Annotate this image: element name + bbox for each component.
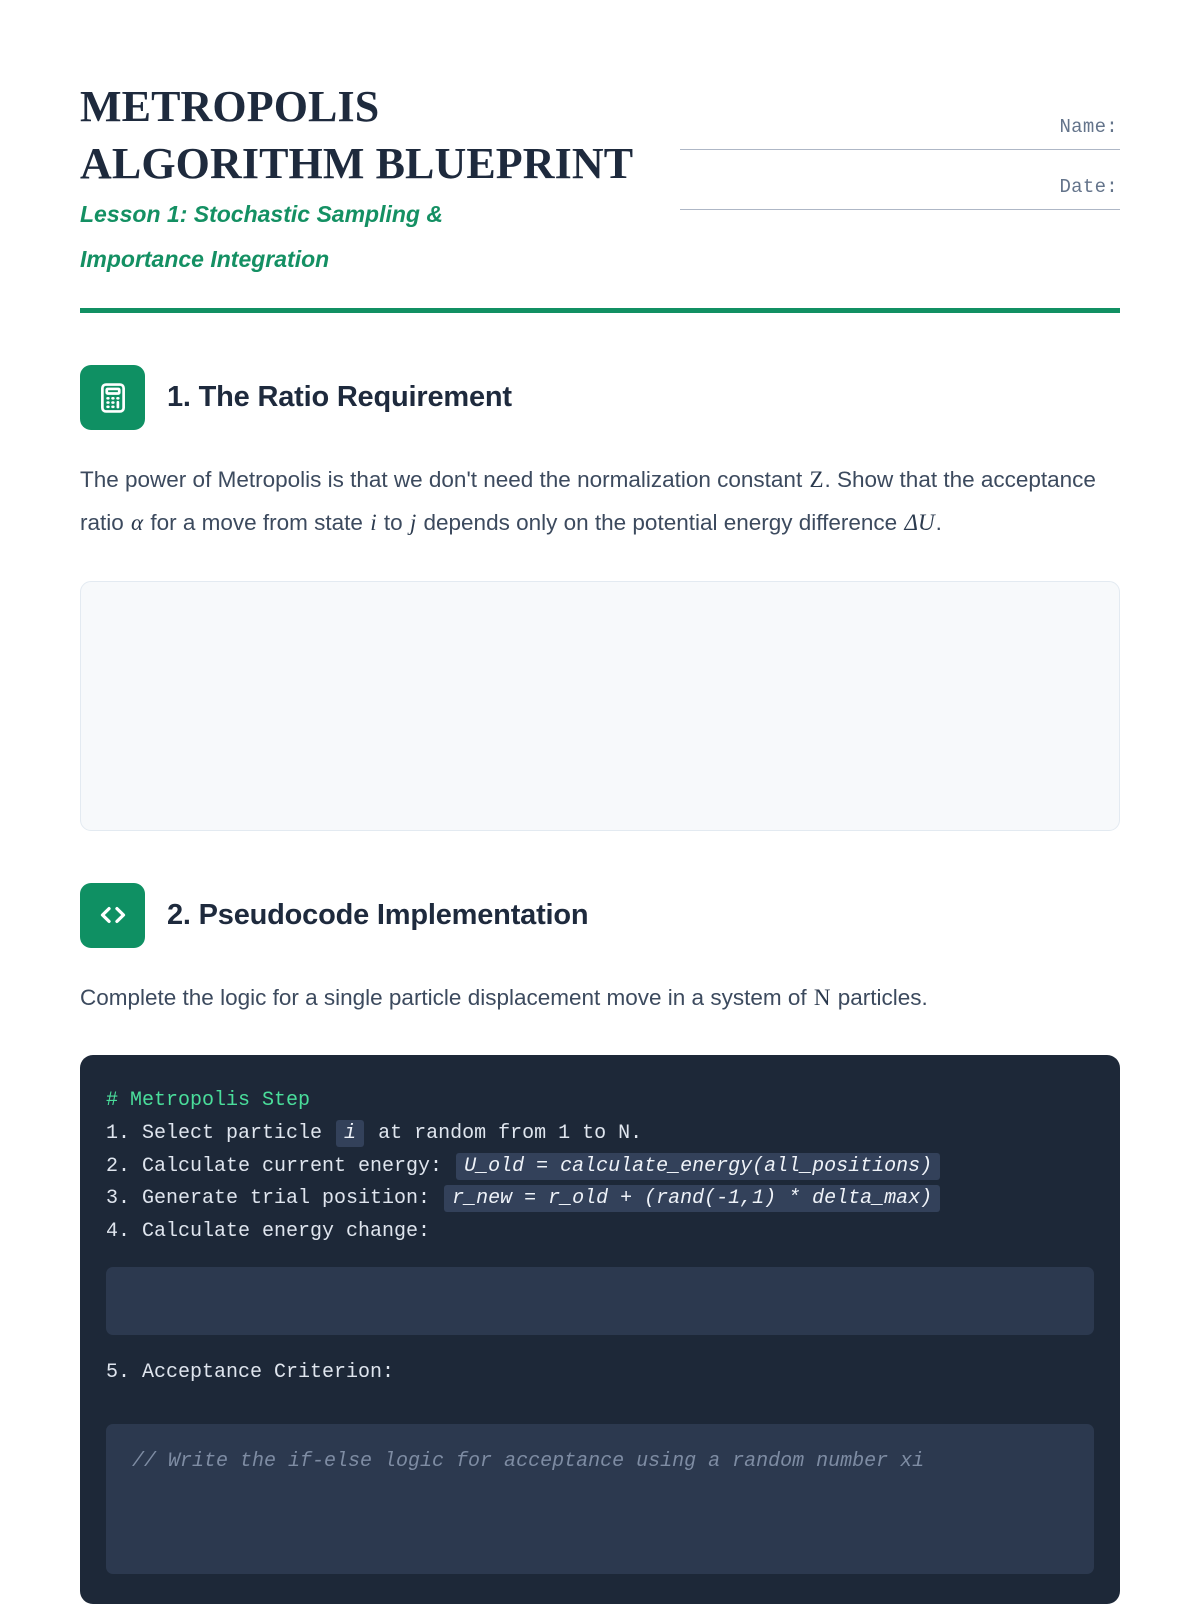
name-label: Name: [680,116,1120,138]
code-spacer [106,1390,1094,1406]
worksheet-page: METROPOLIS ALGORITHM BLUEPRINT Lesson 1:… [0,0,1200,1604]
code-chip-u-old: U_old = calculate_energy(all_positions) [456,1153,940,1180]
math-N: N [813,985,832,1010]
section-1-header: 1. The Ratio Requirement [80,365,1120,430]
code-chip-particle-i: i [336,1120,364,1147]
prompt-text-1d: to [378,510,409,535]
code-step-5: 5. Acceptance Criterion: [106,1357,1094,1390]
header-divider [80,308,1120,313]
prompt-text-1f: . [936,510,942,535]
section-2-title: 2. Pseudocode Implementation [167,899,588,932]
section-1-title: 1. The Ratio Requirement [167,381,512,414]
code-step-4: 4. Calculate energy change: [106,1216,1094,1249]
prompt-text-2b: particles. [831,985,927,1010]
code-step-3-text: 3. Generate trial position: [106,1187,442,1210]
code-step-1: 1. Select particle i at random from 1 to… [106,1118,1094,1151]
math-j: j [409,510,417,535]
section-1-prompt: The power of Metropolis is that we don't… [80,458,1120,545]
date-label: Date: [680,176,1120,198]
answer-box-acceptance-criterion[interactable]: // Write the if-else logic for acceptanc… [106,1424,1094,1574]
name-field-group[interactable]: Name: [680,116,1120,150]
code-icon [80,883,145,948]
title-block: METROPOLIS ALGORITHM BLUEPRINT Lesson 1:… [80,78,633,282]
code-step-2: 2. Calculate current energy: U_old = cal… [106,1151,1094,1184]
prompt-text-1a: The power of Metropolis is that we don't… [80,467,808,492]
acceptance-placeholder-text: // Write the if-else logic for acceptanc… [106,1424,1094,1479]
document-header: METROPOLIS ALGORITHM BLUEPRINT Lesson 1:… [80,0,1120,282]
section-ratio-requirement: 1. The Ratio Requirement The power of Me… [80,365,1120,831]
page-subtitle: Lesson 1: Stochastic Sampling & Importan… [80,192,550,282]
code-step-1-text-a: 1. Select particle [106,1122,334,1145]
section-pseudocode-implementation: 2. Pseudocode Implementation Complete th… [80,883,1120,1604]
student-meta-block: Name: Date: [680,78,1120,236]
code-comment-line: # Metropolis Step [106,1085,1094,1118]
calculator-icon [80,365,145,430]
math-alpha: α [130,510,144,535]
code-chip-r-new: r_new = r_old + (rand(-1,1) * delta_max) [444,1185,940,1212]
date-write-line[interactable] [680,209,1120,210]
prompt-text-1e: depends only on the potential energy dif… [417,510,903,535]
page-title: METROPOLIS ALGORITHM BLUEPRINT [80,78,633,192]
prompt-text-1c: for a move from state [144,510,369,535]
math-delta-U: ΔU [903,510,935,535]
date-field-group[interactable]: Date: [680,176,1120,210]
prompt-text-2a: Complete the logic for a single particle… [80,985,813,1010]
math-Z: Z [808,467,824,492]
name-write-line[interactable] [680,149,1120,150]
answer-box-energy-change[interactable] [106,1267,1094,1335]
math-i: i [369,510,377,535]
section-2-prompt: Complete the logic for a single particle… [80,976,1120,1019]
section-2-header: 2. Pseudocode Implementation [80,883,1120,948]
pseudocode-block: # Metropolis Step 1. Select particle i a… [80,1055,1120,1604]
code-step-1-text-b: at random from 1 to N. [366,1122,642,1145]
code-step-3: 3. Generate trial position: r_new = r_ol… [106,1183,1094,1216]
answer-box-section-1[interactable] [80,581,1120,831]
code-step-2-text: 2. Calculate current energy: [106,1155,454,1178]
